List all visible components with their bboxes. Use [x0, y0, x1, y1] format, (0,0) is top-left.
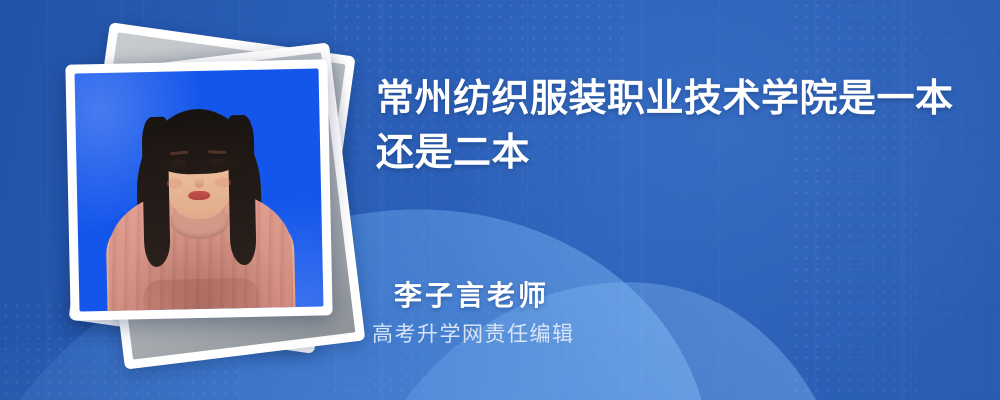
article-title: 常州纺织服装职业技术学院是一本 还是二本 [376, 72, 956, 180]
article-title-line-2: 还是二本 [376, 126, 956, 180]
text-column: 常州纺织服装职业技术学院是一本 还是二本 李子言老师 高考升学网责任编辑 [376, 0, 976, 400]
article-title-line-1: 常州纺织服装职业技术学院是一本 [376, 72, 956, 126]
portrait-eye-left [171, 159, 187, 166]
author-role: 高考升学网责任编辑 [372, 318, 575, 348]
author-name: 李子言老师 [394, 274, 549, 314]
portrait-dress-waist [143, 278, 260, 310]
portrait-photo [75, 68, 324, 311]
portrait-eye-right [209, 158, 225, 165]
portrait-nose [195, 177, 204, 188]
portrait-illustration [75, 68, 324, 311]
portrait-eyebrow-right [208, 150, 226, 154]
photo-card-stack [46, 36, 346, 356]
article-cover-banner: 常州纺织服装职业技术学院是一本 还是二本 李子言老师 高考升学网责任编辑 [0, 0, 1000, 400]
photo-card-front [65, 59, 332, 320]
